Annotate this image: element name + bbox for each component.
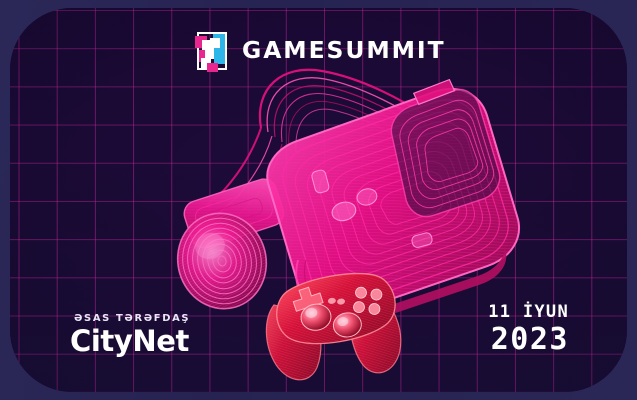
event-date-day: 11 İYUN	[488, 304, 569, 321]
event-date-block: 11 İYUN 2023	[488, 304, 569, 355]
sponsor-name-label: CityNet	[70, 327, 189, 356]
brand-header: GAMESUMMIT	[10, 30, 627, 72]
game-controller	[259, 268, 405, 388]
event-date-year: 2023	[488, 325, 569, 355]
crt-screen: GAMESUMMIT ƏSAS TƏRƏFDAŞ CityNet 11 İYUN…	[10, 8, 627, 392]
sponsor-kicker-label: ƏSAS TƏRƏFDAŞ	[74, 313, 194, 324]
brand-wordmark: GAMESUMMIT	[242, 40, 446, 63]
sponsor-block: ƏSAS TƏRƏFDAŞ CityNet	[70, 313, 189, 356]
event-banner: GAMESUMMIT ƏSAS TƏRƏFDAŞ CityNet 11 İYUN…	[0, 0, 637, 400]
gamesummit-logo-icon	[193, 30, 231, 72]
